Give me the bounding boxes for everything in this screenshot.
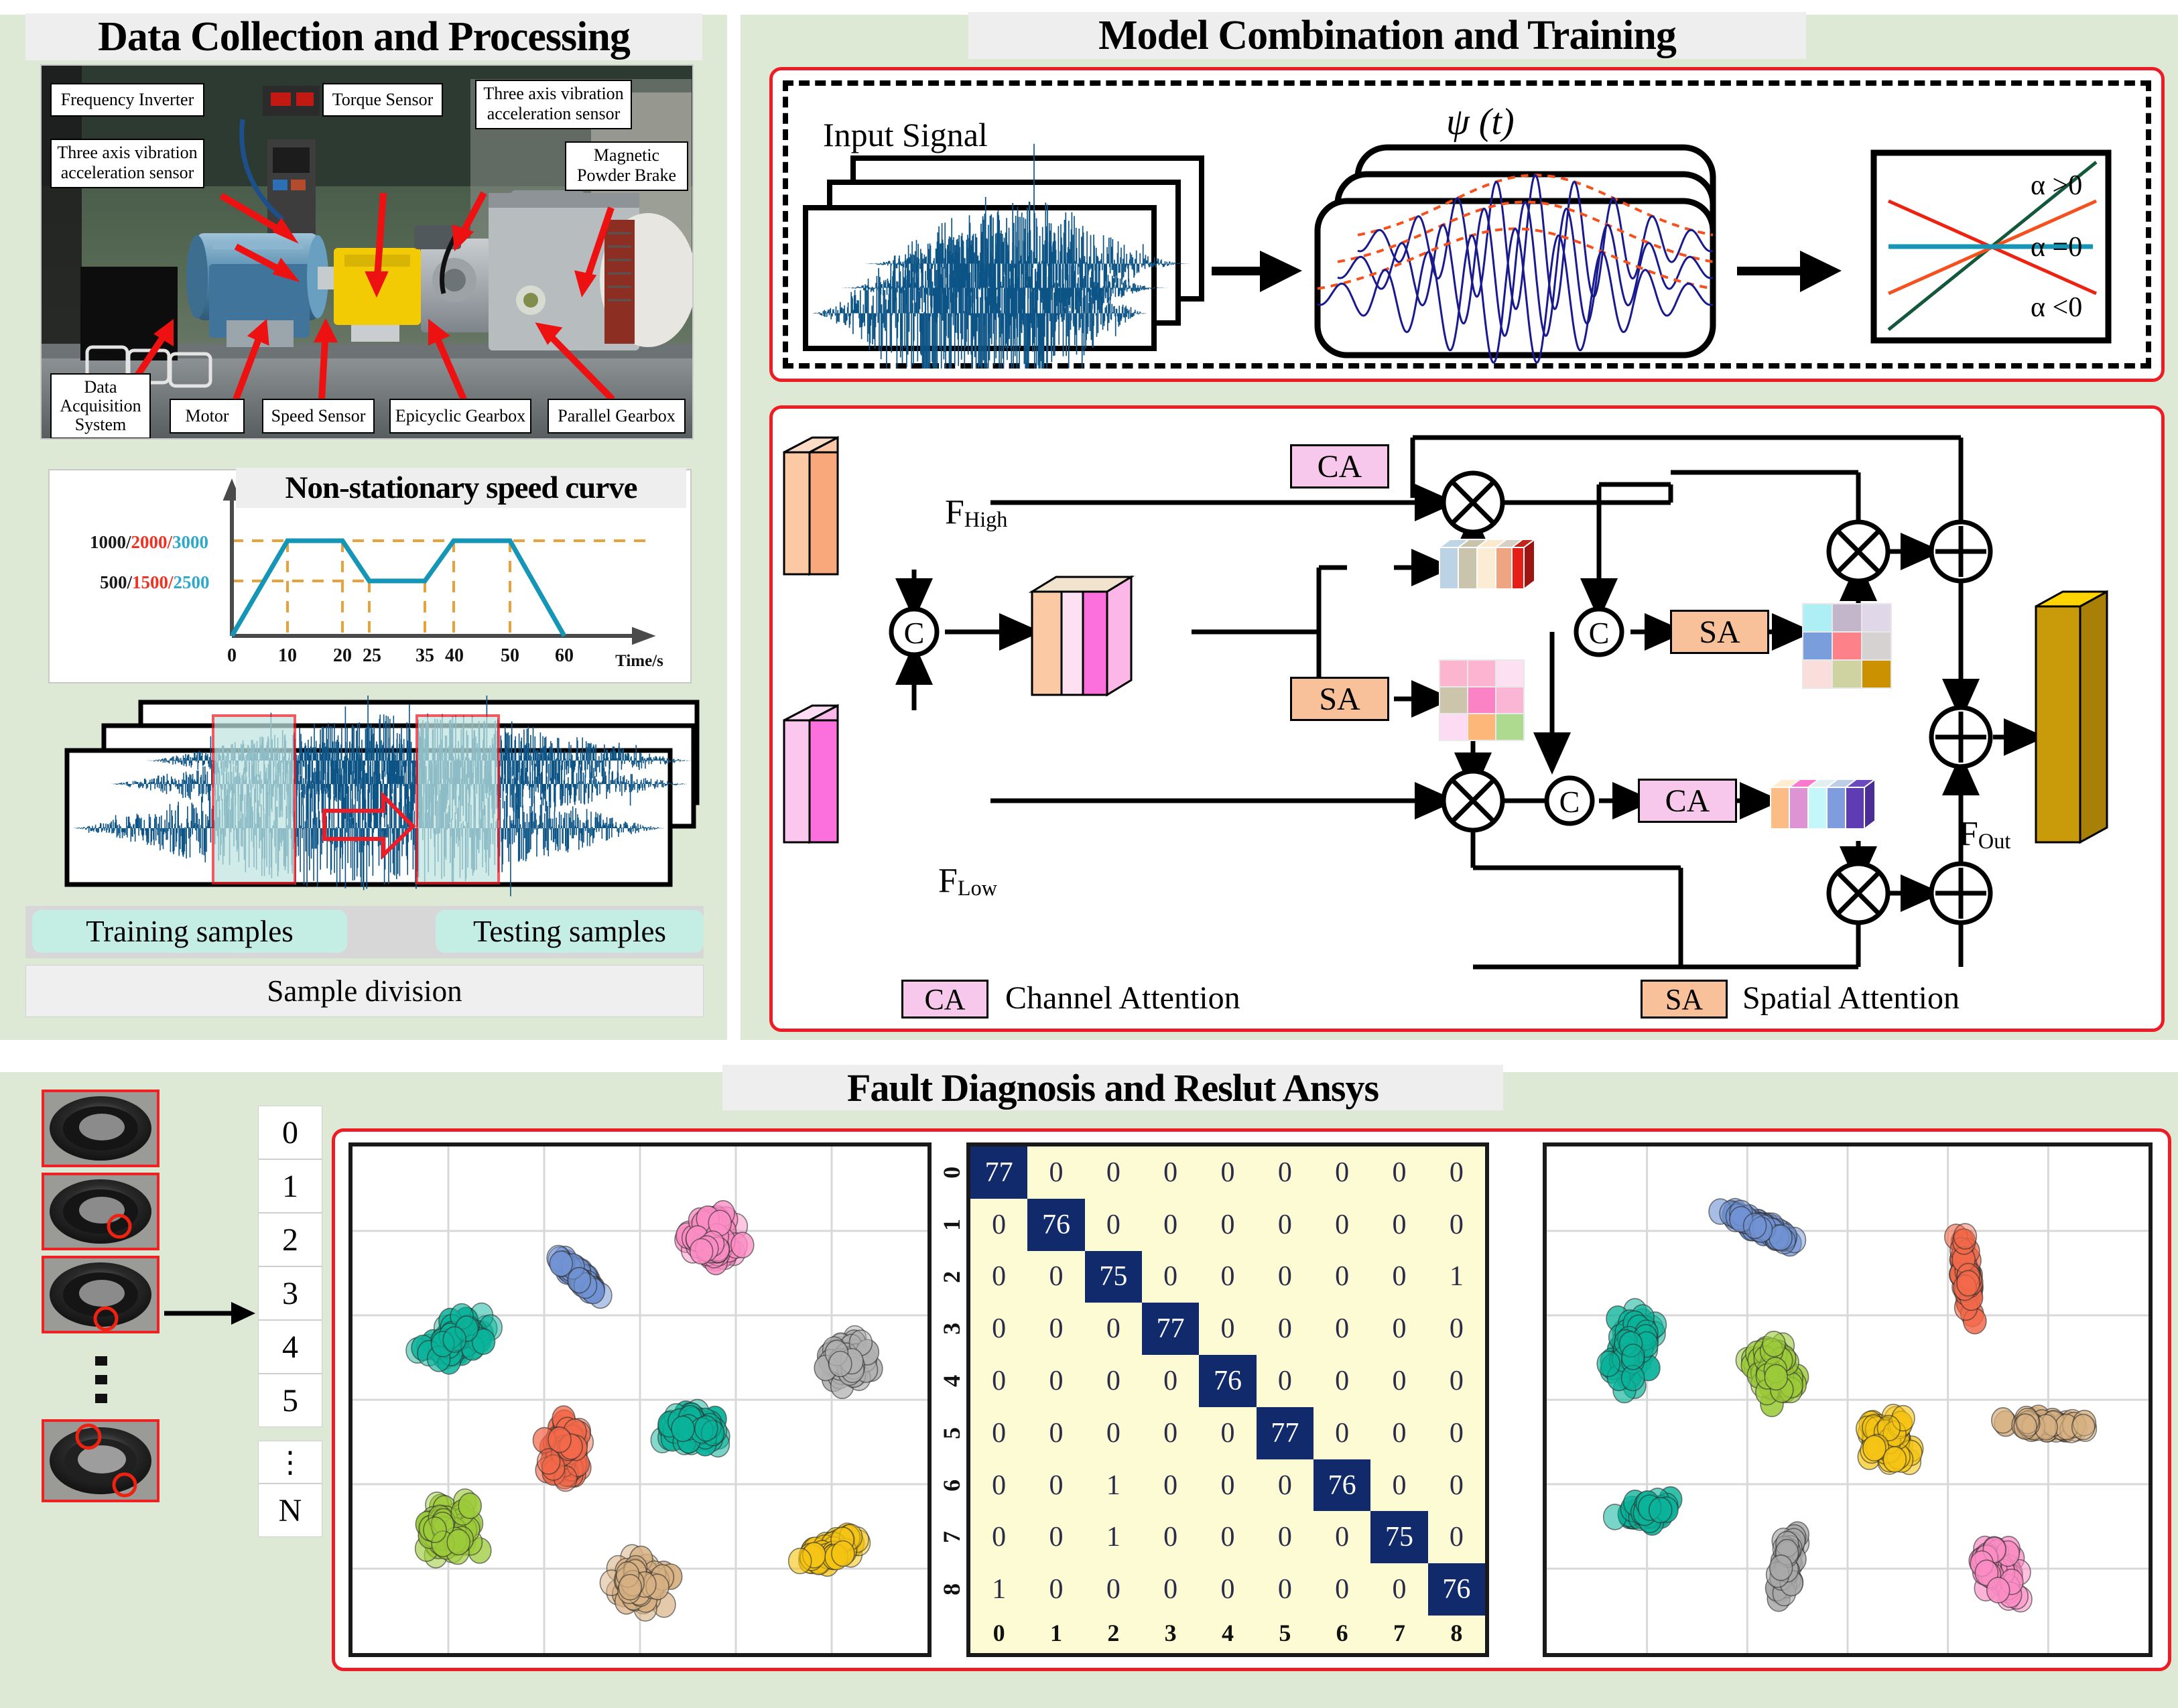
sa-output-grid-left bbox=[1439, 660, 1524, 740]
confusion-cell-5-7: 0 bbox=[1370, 1407, 1427, 1459]
confusion-cell-5-8: 0 bbox=[1428, 1407, 1485, 1459]
confusion-cell-5-4: 0 bbox=[1199, 1407, 1256, 1459]
sa-chip-left[interactable]: SA bbox=[1290, 677, 1389, 721]
confusion-cell-2-1: 0 bbox=[1027, 1251, 1084, 1303]
confusion-cell-0-7: 0 bbox=[1370, 1146, 1427, 1199]
svg-text:Torque Sensor: Torque Sensor bbox=[332, 90, 434, 109]
svg-text:Powder Brake: Powder Brake bbox=[577, 166, 676, 185]
sample-division-caption: Sample division bbox=[25, 965, 704, 1017]
alpha-gt-label: α >0 bbox=[2031, 170, 2082, 201]
ca-output-bar-left bbox=[1439, 539, 1535, 589]
f-out-label: FOut bbox=[1959, 814, 2010, 854]
svg-text:C: C bbox=[1589, 616, 1610, 650]
svg-text:Three axis vibration: Three axis vibration bbox=[57, 143, 197, 162]
confusion-cell-8-0: 1 bbox=[970, 1563, 1027, 1616]
confusion-cell-5-0: 0 bbox=[970, 1407, 1027, 1459]
svg-text:Acquisition: Acquisition bbox=[60, 396, 141, 415]
confusion-cell-0-0: 77 bbox=[970, 1146, 1027, 1199]
confusion-cell-2-8: 1 bbox=[1428, 1251, 1485, 1303]
svg-text:500/1500/2500: 500/1500/2500 bbox=[100, 572, 210, 592]
confusion-cell-4-8: 0 bbox=[1428, 1355, 1485, 1407]
sample-waveform-stack bbox=[40, 696, 710, 897]
confusion-cell-7-1: 0 bbox=[1027, 1511, 1084, 1563]
confusion-cell-1-2: 0 bbox=[1085, 1199, 1142, 1251]
svg-text:40: 40 bbox=[445, 645, 464, 666]
svg-text:0: 0 bbox=[227, 645, 237, 666]
confusion-matrix-row-labels: 012345678 bbox=[937, 1146, 966, 1616]
speed-curve-title: Non-stationary speed curve bbox=[236, 468, 686, 508]
confusion-col-label-1: 1 bbox=[1027, 1616, 1084, 1650]
confusion-row-label-8: 8 bbox=[925, 1575, 978, 1604]
svg-text:Data: Data bbox=[84, 377, 117, 397]
svg-text:25: 25 bbox=[363, 645, 381, 666]
confusion-cell-8-8: 76 bbox=[1428, 1563, 1485, 1616]
confusion-cell-5-5: 77 bbox=[1257, 1407, 1314, 1459]
confusion-cell-3-2: 0 bbox=[1085, 1303, 1142, 1355]
confusion-col-label-5: 5 bbox=[1257, 1616, 1314, 1650]
confusion-row-label-1: 1 bbox=[925, 1210, 978, 1240]
bearing-image-column bbox=[40, 1086, 161, 1689]
confusion-cell-6-8: 0 bbox=[1428, 1459, 1485, 1512]
confusion-cell-6-6: 76 bbox=[1314, 1459, 1370, 1512]
confusion-cell-2-6: 0 bbox=[1314, 1251, 1370, 1303]
confusion-cell-2-4: 0 bbox=[1199, 1251, 1256, 1303]
confusion-row-label-5: 5 bbox=[925, 1419, 978, 1448]
ca-chip-right[interactable]: CA bbox=[1638, 779, 1737, 823]
confusion-cell-4-6: 0 bbox=[1314, 1355, 1370, 1407]
svg-text:60: 60 bbox=[555, 645, 574, 666]
confusion-cell-5-3: 0 bbox=[1142, 1407, 1199, 1459]
confusion-cell-1-3: 0 bbox=[1142, 1199, 1199, 1251]
confusion-cell-3-8: 0 bbox=[1428, 1303, 1485, 1355]
confusion-cell-6-0: 0 bbox=[970, 1459, 1027, 1512]
test-bench-photo: Frequency Inverter Three axis vibration … bbox=[42, 66, 692, 438]
confusion-cell-8-7: 0 bbox=[1370, 1563, 1427, 1616]
ca-output-bar-right bbox=[1771, 779, 1875, 829]
svg-text:1000/2000/3000: 1000/2000/3000 bbox=[90, 532, 208, 552]
confusion-cell-1-6: 0 bbox=[1314, 1199, 1370, 1251]
confusion-row-label-4: 4 bbox=[925, 1366, 978, 1396]
svg-text:Motor: Motor bbox=[186, 406, 229, 425]
confusion-cell-7-5: 0 bbox=[1257, 1511, 1314, 1563]
confusion-cell-4-7: 0 bbox=[1370, 1355, 1427, 1407]
svg-text:20: 20 bbox=[333, 645, 352, 666]
confusion-cell-0-5: 0 bbox=[1257, 1146, 1314, 1199]
confusion-cell-1-0: 0 bbox=[970, 1199, 1027, 1251]
svg-text:C: C bbox=[1559, 785, 1580, 819]
f-low-label: FLow bbox=[938, 861, 997, 901]
ca-legend-chip: CA bbox=[901, 980, 988, 1019]
confusion-col-label-7: 7 bbox=[1370, 1616, 1427, 1650]
confusion-cell-5-2: 0 bbox=[1085, 1407, 1142, 1459]
confusion-cell-5-6: 0 bbox=[1314, 1407, 1370, 1459]
svg-text:Time/s: Time/s bbox=[615, 652, 663, 670]
confusion-matrix: 7700000000076000000000750000010007700000… bbox=[966, 1142, 1489, 1657]
confusion-cell-7-6: 0 bbox=[1314, 1511, 1370, 1563]
confusion-cell-4-0: 0 bbox=[970, 1355, 1027, 1407]
svg-text:Epicyclic Gearbox: Epicyclic Gearbox bbox=[395, 406, 525, 425]
svg-text:50: 50 bbox=[501, 645, 519, 666]
svg-text:35: 35 bbox=[415, 645, 434, 666]
sa-legend-chip: SA bbox=[1641, 980, 1728, 1019]
confusion-cell-6-1: 0 bbox=[1027, 1459, 1084, 1512]
callout-frequency-inverter: Frequency Inverter bbox=[61, 90, 194, 109]
f-out-block bbox=[2036, 592, 2107, 842]
confusion-cell-0-3: 0 bbox=[1142, 1146, 1199, 1199]
confusion-cell-7-7: 75 bbox=[1370, 1511, 1427, 1563]
confusion-cell-2-0: 0 bbox=[970, 1251, 1027, 1303]
confusion-cell-7-4: 0 bbox=[1199, 1511, 1256, 1563]
confusion-cell-0-2: 0 bbox=[1085, 1146, 1142, 1199]
confusion-cell-8-5: 0 bbox=[1257, 1563, 1314, 1616]
psi-label: ψ (t) bbox=[1446, 101, 1515, 143]
confusion-cell-7-0: 0 bbox=[970, 1511, 1027, 1563]
svg-text:10: 10 bbox=[278, 645, 297, 666]
confusion-cell-2-2: 75 bbox=[1085, 1251, 1142, 1303]
class-label-1: 1 bbox=[258, 1159, 322, 1213]
confusion-row-label-3: 3 bbox=[925, 1314, 978, 1343]
confusion-col-label-3: 3 bbox=[1142, 1616, 1199, 1650]
fused-feature-block bbox=[1032, 577, 1131, 695]
confusion-cell-1-1: 76 bbox=[1027, 1199, 1084, 1251]
f-high-block bbox=[784, 438, 838, 574]
input-signal-label: Input Signal bbox=[823, 115, 988, 154]
confusion-row-label-0: 0 bbox=[925, 1158, 978, 1187]
class-label-2: 2 bbox=[258, 1213, 322, 1266]
svg-text:acceleration sensor: acceleration sensor bbox=[61, 163, 194, 182]
confusion-cell-8-4: 0 bbox=[1199, 1563, 1256, 1616]
data-collection-title: Data Collection and Processing bbox=[25, 13, 702, 60]
confusion-cell-0-6: 0 bbox=[1314, 1146, 1370, 1199]
confusion-cell-4-5: 0 bbox=[1257, 1355, 1314, 1407]
confusion-col-label-0: 0 bbox=[970, 1616, 1027, 1650]
ca-chip-left[interactable]: CA bbox=[1290, 444, 1389, 488]
confusion-cell-7-3: 0 bbox=[1142, 1511, 1199, 1563]
class-label-ellipsis: ⋮ bbox=[258, 1441, 322, 1484]
confusion-cell-3-0: 0 bbox=[970, 1303, 1027, 1355]
confusion-cell-8-6: 0 bbox=[1314, 1563, 1370, 1616]
confusion-cell-3-5: 0 bbox=[1257, 1303, 1314, 1355]
confusion-cell-3-3: 77 bbox=[1142, 1303, 1199, 1355]
tsne-right-plot bbox=[1543, 1142, 2153, 1657]
confusion-cell-3-7: 0 bbox=[1370, 1303, 1427, 1355]
model-title: Model Combination and Training bbox=[968, 12, 1806, 59]
svg-text:C: C bbox=[904, 616, 925, 650]
confusion-cell-8-2: 0 bbox=[1085, 1563, 1142, 1616]
alpha-lt-label: α <0 bbox=[2031, 292, 2082, 323]
confusion-col-label-8: 8 bbox=[1428, 1616, 1485, 1650]
test-bench-card: Frequency Inverter Three axis vibration … bbox=[40, 64, 694, 440]
confusion-cell-4-1: 0 bbox=[1027, 1355, 1084, 1407]
class-label-n: N bbox=[258, 1484, 322, 1537]
confusion-cell-3-4: 0 bbox=[1199, 1303, 1256, 1355]
confusion-cell-0-8: 0 bbox=[1428, 1146, 1485, 1199]
confusion-cell-4-2: 0 bbox=[1085, 1355, 1142, 1407]
confusion-cell-7-2: 1 bbox=[1085, 1511, 1142, 1563]
confusion-cell-2-3: 0 bbox=[1142, 1251, 1199, 1303]
sa-chip-right[interactable]: SA bbox=[1670, 610, 1769, 654]
confusion-cell-6-3: 0 bbox=[1142, 1459, 1199, 1512]
confusion-cell-1-8: 0 bbox=[1428, 1199, 1485, 1251]
confusion-col-label-2: 2 bbox=[1085, 1616, 1142, 1650]
ca-legend-text: Channel Attention bbox=[1005, 980, 1240, 1016]
tsne-left-plot bbox=[348, 1142, 932, 1657]
confusion-cell-1-5: 0 bbox=[1257, 1199, 1314, 1251]
bearing-to-class-arrow bbox=[164, 1293, 258, 1333]
confusion-row-label-6: 6 bbox=[925, 1471, 978, 1500]
svg-text:Speed Sensor: Speed Sensor bbox=[271, 406, 366, 425]
testing-samples-button[interactable]: Testing samples bbox=[436, 910, 704, 953]
confusion-cell-8-3: 0 bbox=[1142, 1563, 1199, 1616]
confusion-cell-5-1: 0 bbox=[1027, 1407, 1084, 1459]
confusion-col-label-6: 6 bbox=[1314, 1616, 1370, 1650]
confusion-cell-1-7: 0 bbox=[1370, 1199, 1427, 1251]
svg-text:Magnetic: Magnetic bbox=[594, 145, 659, 165]
sa-output-grid-right bbox=[1803, 604, 1891, 688]
alpha-eq-label: α =0 bbox=[2031, 232, 2082, 263]
confusion-cell-8-1: 0 bbox=[1027, 1563, 1084, 1616]
confusion-row-label-7: 7 bbox=[925, 1522, 978, 1552]
f-low-block bbox=[784, 706, 838, 842]
class-label-stack: 0 1 2 3 4 5 ⋮ N bbox=[258, 1106, 322, 1668]
training-samples-button[interactable]: Training samples bbox=[32, 910, 347, 953]
f-high-label: FHigh bbox=[945, 492, 1007, 532]
svg-text:Three axis vibration: Three axis vibration bbox=[483, 84, 623, 103]
confusion-cell-0-4: 0 bbox=[1199, 1146, 1256, 1199]
svg-text:acceleration sensor: acceleration sensor bbox=[487, 104, 621, 123]
class-label-3: 3 bbox=[258, 1266, 322, 1320]
confusion-cell-6-7: 0 bbox=[1370, 1459, 1427, 1512]
confusion-cell-1-4: 0 bbox=[1199, 1199, 1256, 1251]
sa-legend-text: Spatial Attention bbox=[1742, 980, 1960, 1016]
class-label-4: 4 bbox=[258, 1320, 322, 1374]
svg-text:Parallel Gearbox: Parallel Gearbox bbox=[558, 406, 675, 425]
confusion-cell-6-5: 0 bbox=[1257, 1459, 1314, 1512]
confusion-cell-3-1: 0 bbox=[1027, 1303, 1084, 1355]
svg-text:System: System bbox=[75, 415, 127, 434]
class-label-5: 5 bbox=[258, 1374, 322, 1427]
confusion-cell-0-1: 0 bbox=[1027, 1146, 1084, 1199]
confusion-cell-6-4: 0 bbox=[1199, 1459, 1256, 1512]
confusion-cell-4-3: 0 bbox=[1142, 1355, 1199, 1407]
confusion-cell-2-5: 0 bbox=[1257, 1251, 1314, 1303]
confusion-cell-2-7: 0 bbox=[1370, 1251, 1427, 1303]
confusion-col-label-4: 4 bbox=[1199, 1616, 1256, 1650]
confusion-cell-7-8: 0 bbox=[1428, 1511, 1485, 1563]
class-label-0: 0 bbox=[258, 1106, 322, 1159]
confusion-cell-3-6: 0 bbox=[1314, 1303, 1370, 1355]
confusion-cell-4-4: 76 bbox=[1199, 1355, 1256, 1407]
confusion-row-label-2: 2 bbox=[925, 1262, 978, 1291]
fault-title: Fault Diagnosis and Reslut Ansys bbox=[722, 1065, 1503, 1110]
confusion-cell-6-2: 1 bbox=[1085, 1459, 1142, 1512]
